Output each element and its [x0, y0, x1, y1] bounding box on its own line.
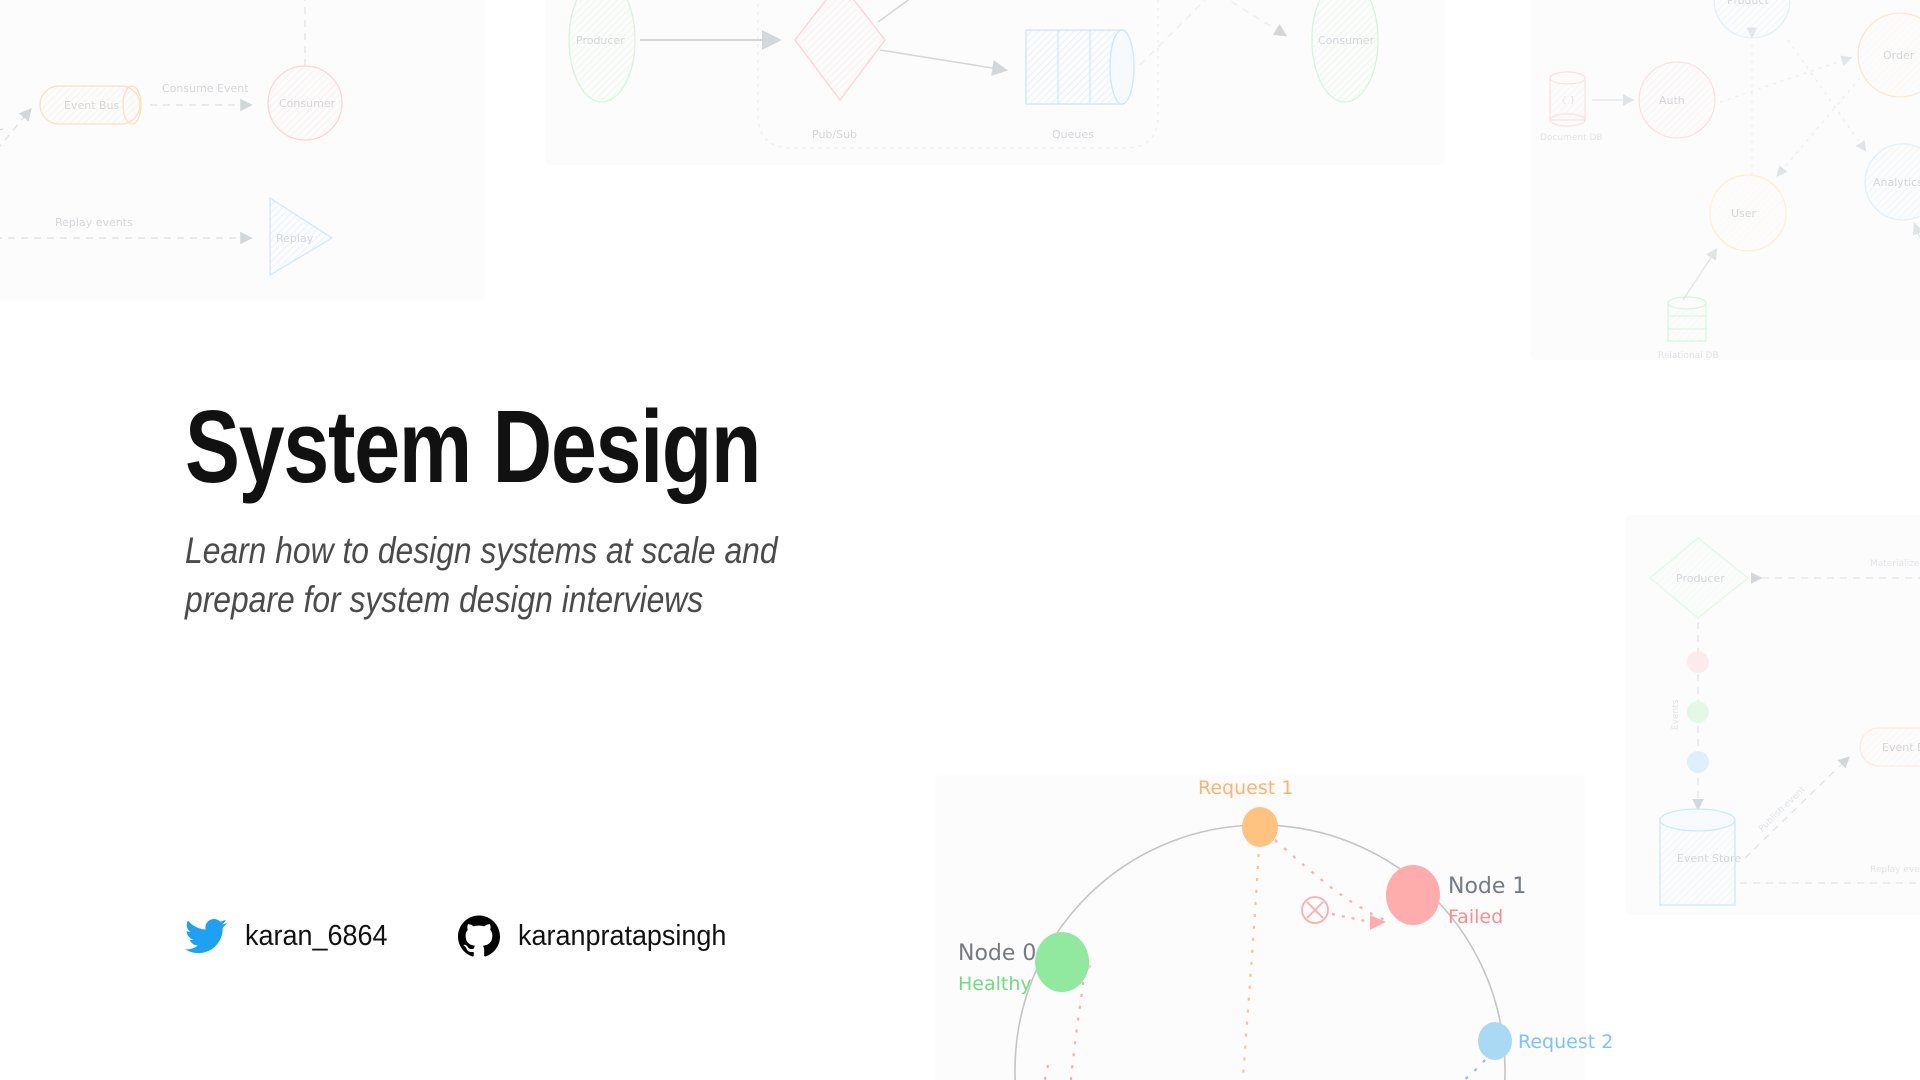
event-dot-1: [1687, 651, 1709, 673]
service-analytics: Analytics: [1865, 144, 1920, 220]
node-producer-diamond: Producer: [1650, 538, 1748, 618]
node-consumer-right: Consumer: [1312, 0, 1378, 102]
service-label-product: Product: [1727, 0, 1769, 7]
node-producer: Producer: [569, 0, 635, 102]
node-label-event-bus-es: Event Bus: [1882, 741, 1920, 754]
twitter-handle: karan_6864: [245, 920, 387, 953]
event-dot-2: [1687, 701, 1709, 723]
node-event-bus: Event Bus: [40, 86, 141, 124]
request-1-label: Request 1: [1198, 777, 1293, 799]
service-product: Product: [1714, 0, 1790, 38]
hero-content: System Design Learn how to design system…: [185, 395, 1085, 624]
node-1-status: Failed: [1448, 906, 1503, 928]
diagram-microservices: Product Order Auth User Analytics: [1520, 0, 1920, 340]
social-links: karan_6864 karanpratapsingh: [185, 915, 742, 957]
node-label-producer-es: Producer: [1676, 572, 1725, 585]
database-relational-db: Relational DB: [1658, 297, 1719, 361]
edge-label-materialized-view: Materialized view: [1870, 559, 1920, 569]
node-1: Node 1 Failed: [1386, 865, 1526, 928]
node-queues: Queues: [1026, 0, 1134, 141]
database-label-document-db: Document DB: [1540, 133, 1603, 143]
node-label-event-store-line1: Event Store: [1677, 852, 1741, 865]
edge-label-consume-event: Consume Event: [162, 82, 249, 95]
node-event-store: Event Store: [1660, 809, 1741, 905]
node-0-status: Healthy: [958, 973, 1032, 995]
database-document-db: { } Document DB: [1540, 72, 1603, 143]
service-label-analytics: Analytics: [1873, 176, 1920, 189]
node-pubsub: Pub/Sub: [795, 0, 885, 141]
twitter-link[interactable]: karan_6864: [185, 915, 398, 957]
request-2: Request 2: [1478, 1022, 1613, 1060]
page-subtitle: Learn how to design systems at scale and…: [185, 526, 839, 624]
diagram-event-driven-architecture: Publish event Event Bus Consume Event Co…: [0, 0, 460, 300]
service-user: User: [1710, 175, 1786, 251]
node-consumer: Consumer: [268, 66, 342, 140]
node-0-label: Node 0: [958, 941, 1036, 966]
node-label-consumer: Consumer: [279, 97, 336, 110]
node-1-label: Node 1: [1448, 874, 1526, 899]
node-label-replay: Replay: [276, 232, 314, 245]
node-label-producer: Producer: [576, 34, 625, 47]
page-title: System Design: [185, 395, 905, 498]
node-replay: Replay: [270, 198, 332, 275]
diagram-event-sourcing: Producer Materialized view Events Event …: [1620, 500, 1920, 900]
github-handle: karanpratapsingh: [518, 920, 726, 953]
edge-label-publish-event-es: Publish event: [1757, 785, 1808, 835]
service-label-order: Order: [1883, 49, 1915, 62]
json-glyph: { }: [1561, 96, 1575, 106]
github-link[interactable]: karanpratapsingh: [458, 915, 742, 957]
node-0: Node 0 Healthy: [958, 932, 1089, 995]
hero-page: Publish event Event Bus Consume Event Co…: [0, 0, 1920, 1080]
diagram-publish-subscribe: Producer Pub/Sub: [540, 0, 1440, 190]
node-label-queues: Queues: [1052, 128, 1094, 141]
node-label-consumer-right: Consumer: [1318, 34, 1375, 47]
node-label-event-bus: Event Bus: [64, 99, 120, 112]
edge-label-replay-events-es: Replay events: [1870, 865, 1920, 875]
request-2-label: Request 2: [1518, 1031, 1613, 1053]
service-label-auth: Auth: [1659, 94, 1685, 107]
node-label-pubsub: Pub/Sub: [812, 128, 857, 141]
database-label-relational-db: Relational DB: [1658, 351, 1719, 361]
request-1: Request 1: [1198, 777, 1293, 847]
service-order: Order: [1858, 13, 1920, 97]
event-dot-3: [1687, 751, 1709, 773]
twitter-icon: [185, 915, 227, 957]
edge-label-events: Events: [1671, 699, 1681, 730]
service-auth: Auth: [1639, 62, 1715, 138]
edge-label-publish-event: Publish event: [0, 121, 6, 187]
service-label-user: User: [1731, 207, 1757, 220]
failure-marker-icon: [1302, 897, 1328, 923]
github-icon: [458, 915, 500, 957]
edge-label-replay-events: Replay events: [55, 216, 133, 229]
diagram-consistent-hashing: Request 1 Node 1 Failed Node 0 Healthy R…: [930, 770, 1590, 1080]
node-event-bus-es: Event Bus: [1860, 728, 1920, 766]
